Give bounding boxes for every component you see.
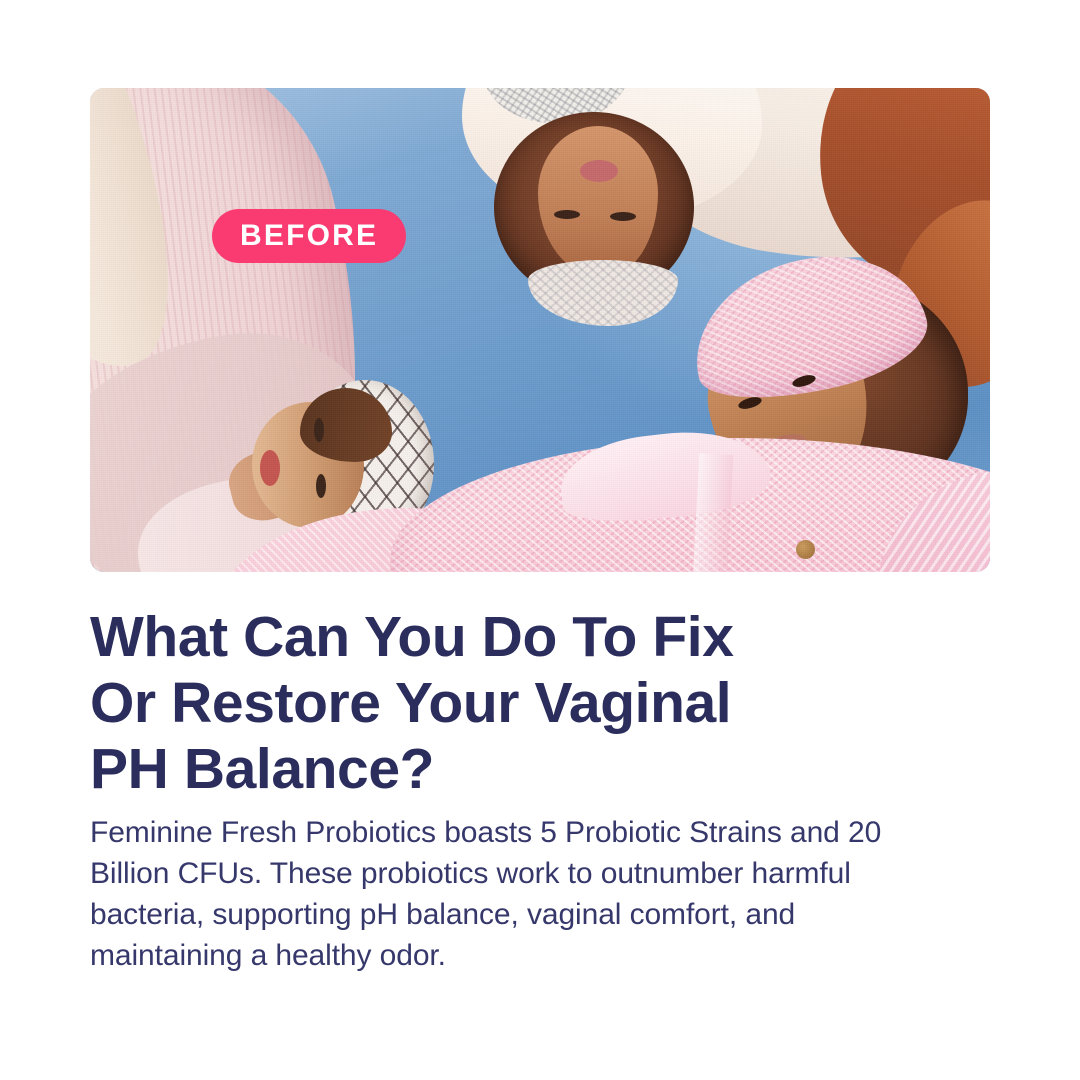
- top-figure-eye-right: [610, 212, 636, 221]
- before-badge: BEFORE: [212, 209, 406, 263]
- left-figure-eye-upper: [314, 418, 324, 442]
- headline-line-2: Or Restore Your Vaginal: [90, 670, 950, 736]
- body-line-4: maintaining a healthy odor.: [90, 935, 995, 976]
- body-line-3: bacteria, supporting pH balance, vaginal…: [90, 894, 995, 935]
- page-title: What Can You Do To Fix Or Restore Your V…: [90, 604, 950, 802]
- jacket-button-top: [796, 540, 815, 559]
- left-figure-eye-lower: [316, 474, 326, 498]
- top-figure-eye-left: [554, 210, 580, 219]
- left-figure-lips: [260, 450, 280, 486]
- hero-photo: BEFORE: [90, 88, 990, 572]
- body-line-2: Billion CFUs. These probiotics work to o…: [90, 853, 995, 894]
- top-figure-lips: [580, 160, 618, 182]
- before-badge-label: BEFORE: [240, 221, 378, 251]
- body-line-1: Feminine Fresh Probiotics boasts 5 Probi…: [90, 812, 995, 853]
- headline-line-3: PH Balance?: [90, 736, 950, 802]
- headline-line-1: What Can You Do To Fix: [90, 604, 950, 670]
- promo-card: BEFORE What Can You Do To Fix Or Restore…: [0, 0, 1080, 1080]
- body-paragraph: Feminine Fresh Probiotics boasts 5 Probi…: [90, 812, 995, 976]
